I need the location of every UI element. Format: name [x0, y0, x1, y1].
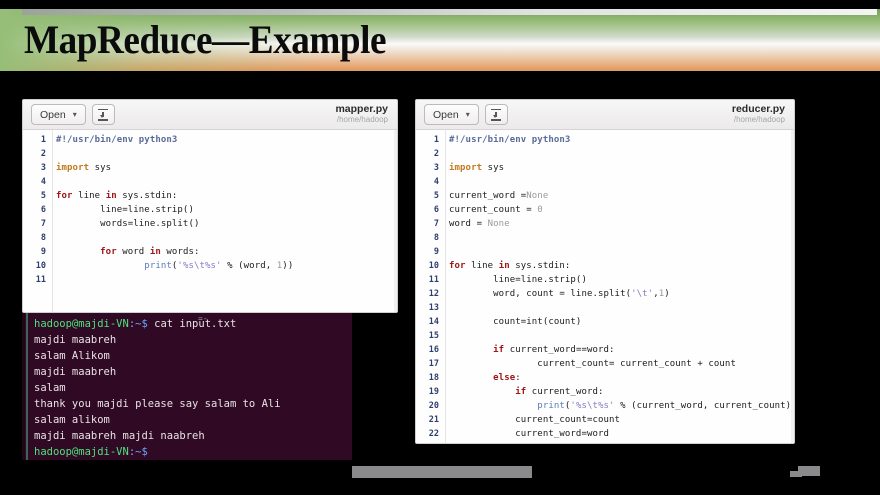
code-line: 5for line in sys.stdin:	[23, 189, 397, 203]
line-number: 9	[23, 245, 50, 259]
line-number: 1	[23, 133, 50, 147]
line-number: 12	[416, 287, 443, 301]
reducer-file-path: /home/hadoop	[732, 115, 785, 124]
terminal-artifact-mark: =-	[198, 314, 208, 323]
mapper-file-name: mapper.py	[335, 103, 388, 115]
code-line: 8	[416, 231, 794, 245]
line-number: 6	[416, 203, 443, 217]
code-line: 7word = None	[416, 217, 794, 231]
code-text: line=line.strip()	[443, 273, 587, 287]
terminal-line: salam	[26, 380, 352, 396]
line-number: 15	[416, 329, 443, 343]
terminal-line: salam alikom	[26, 412, 352, 428]
code-line: 21 current_count=count	[416, 413, 794, 427]
code-text: import sys	[443, 161, 504, 175]
line-number: 20	[416, 399, 443, 413]
reducer-editor-window: Open ▾ reducer.py /home/hadoop 1#!/usr/b…	[415, 99, 795, 444]
mapper-file-path: /home/hadoop	[335, 115, 388, 124]
code-line: 10 print('%s\t%s' % (word, 1))	[23, 259, 397, 273]
mapper-scrollbar[interactable]	[394, 130, 397, 312]
code-text: words=line.split()	[50, 217, 199, 231]
line-number: 23	[416, 441, 443, 443]
code-line: 9	[416, 245, 794, 259]
line-number: 6	[23, 203, 50, 217]
mapper-gutter-divider	[52, 130, 53, 312]
line-number: 17	[416, 357, 443, 371]
line-number: 4	[416, 175, 443, 189]
code-text: else:	[443, 371, 521, 385]
code-text: print('%s\t%s' % (current_word, current_…	[443, 399, 794, 413]
code-line: 6 line=line.strip()	[23, 203, 397, 217]
chevron-down-icon: ▾	[466, 110, 470, 119]
code-line: 14 count=int(count)	[416, 315, 794, 329]
mapper-title-block: mapper.py /home/hadoop	[335, 103, 388, 124]
code-line: 11	[23, 273, 397, 287]
page-title: MapReduce—Example	[24, 14, 386, 66]
code-line: 9 for word in words:	[23, 245, 397, 259]
code-line: 1#!/usr/bin/env python3	[23, 133, 397, 147]
line-number: 5	[416, 189, 443, 203]
code-text: #!/usr/bin/env python3	[443, 133, 570, 147]
code-text: import sys	[50, 161, 111, 175]
line-number: 2	[416, 147, 443, 161]
line-number: 3	[416, 161, 443, 175]
reducer-title-block: reducer.py /home/hadoop	[732, 103, 785, 124]
code-line: 11 line=line.strip()	[416, 273, 794, 287]
code-line: 8	[23, 231, 397, 245]
code-text: word, count = line.split('\t',1)	[443, 287, 670, 301]
reducer-file-name: reducer.py	[732, 103, 785, 115]
terminal-left-edge	[22, 313, 25, 460]
line-number: 2	[23, 147, 50, 161]
code-line: 22 current_word=word	[416, 427, 794, 441]
code-text: if current_word==word:	[443, 343, 615, 357]
code-line: 5current_word =None	[416, 189, 794, 203]
line-number: 10	[23, 259, 50, 273]
line-number: 1	[416, 133, 443, 147]
line-number: 21	[416, 413, 443, 427]
code-text: current_word =None	[443, 189, 548, 203]
line-number: 7	[416, 217, 443, 231]
line-number: 11	[23, 273, 50, 287]
code-line: 10for line in sys.stdin:	[416, 259, 794, 273]
mapper-open-label: Open	[40, 109, 66, 121]
mapper-toolbar: Open ▾	[31, 104, 115, 125]
reducer-scrollbar[interactable]	[791, 130, 794, 443]
terminal-line: majdi maabreh majdi naabreh	[26, 428, 352, 444]
terminal-line: salam Alikom	[26, 348, 352, 364]
code-line: 1#!/usr/bin/env python3	[416, 133, 794, 147]
terminal-line: hadoop@majdi-VN:~$ cat input.txt	[26, 316, 352, 332]
mapper-titlebar: Open ▾ mapper.py /home/hadoop	[23, 100, 397, 130]
line-number: 10	[416, 259, 443, 273]
code-text: count=int(count)	[443, 315, 581, 329]
mapper-open-button[interactable]: Open ▾	[31, 104, 86, 125]
code-line: 16 if current_word==word:	[416, 343, 794, 357]
reducer-code-area[interactable]: 1#!/usr/bin/env python32 3import sys4 5c…	[416, 130, 794, 443]
code-line: 2	[416, 147, 794, 161]
line-number: 8	[23, 231, 50, 245]
code-line: 18 else:	[416, 371, 794, 385]
code-text: for line in sys.stdin:	[443, 259, 570, 273]
terminal-scroll-indicator[interactable]	[26, 313, 28, 460]
line-number: 3	[23, 161, 50, 175]
reducer-toolbar: Open ▾	[424, 104, 508, 125]
reducer-gutter-divider	[445, 130, 446, 443]
line-number: 22	[416, 427, 443, 441]
code-text: current_count= current_count + count	[443, 357, 736, 371]
code-text: current_count = 0	[443, 203, 543, 217]
code-line: 20 print('%s\t%s' % (current_word, curre…	[416, 399, 794, 413]
code-line: 15	[416, 329, 794, 343]
code-line: 17 current_count= current_count + count	[416, 357, 794, 371]
save-icon	[97, 109, 109, 121]
slide-footer-bar	[352, 466, 532, 478]
line-number: 18	[416, 371, 443, 385]
code-line: 6current_count = 0	[416, 203, 794, 217]
code-line: 4	[23, 175, 397, 189]
terminal-line: majdi maabreh	[26, 364, 352, 380]
code-text: #!/usr/bin/env python3	[50, 133, 177, 147]
code-text: line=line.strip()	[50, 203, 194, 217]
terminal-line: majdi maabreh	[26, 332, 352, 348]
reducer-save-button[interactable]	[485, 104, 508, 125]
line-number: 7	[23, 217, 50, 231]
code-line: 3import sys	[416, 161, 794, 175]
code-line: 13	[416, 301, 794, 315]
save-icon	[490, 109, 502, 121]
reducer-open-button[interactable]: Open ▾	[424, 104, 479, 125]
mapper-editor-window: Open ▾ mapper.py /home/hadoop 1#!/usr/bi…	[22, 99, 398, 313]
code-line: 19 if current_word:	[416, 385, 794, 399]
code-line: 12 word, count = line.split('\t',1)	[416, 287, 794, 301]
terminal-line: hadoop@majdi-VN:~$	[26, 444, 352, 460]
line-number: 4	[23, 175, 50, 189]
line-number: 5	[23, 189, 50, 203]
chevron-down-icon: ▾	[73, 110, 77, 119]
terminal-output: hadoop@majdi-VN:~$ cat input.txtmajdi ma…	[26, 316, 352, 460]
code-text: word = None	[443, 217, 510, 231]
code-text: current_count=count	[443, 413, 620, 427]
reducer-open-label: Open	[433, 109, 459, 121]
line-number: 9	[416, 245, 443, 259]
slide-footer-mark-secondary	[790, 471, 802, 477]
line-number: 11	[416, 273, 443, 287]
code-text: current_word=word	[443, 427, 609, 441]
code-text: print('%s\t%s' % (word, 1))	[50, 259, 293, 273]
line-number: 14	[416, 315, 443, 329]
reducer-titlebar: Open ▾ reducer.py /home/hadoop	[416, 100, 794, 130]
mapper-save-button[interactable]	[92, 104, 115, 125]
code-line: 7 words=line.split()	[23, 217, 397, 231]
code-line: 23	[416, 441, 794, 443]
code-line: 4	[416, 175, 794, 189]
terminal-window[interactable]: =- hadoop@majdi-VN:~$ cat input.txtmajdi…	[22, 313, 352, 460]
line-number: 19	[416, 385, 443, 399]
line-number: 13	[416, 301, 443, 315]
code-text: for word in words:	[50, 245, 200, 259]
line-number: 8	[416, 231, 443, 245]
line-number: 16	[416, 343, 443, 357]
code-text: if current_word:	[443, 385, 604, 399]
mapper-code-area[interactable]: 1#!/usr/bin/env python32 3import sys4 5f…	[23, 130, 397, 312]
code-text: for line in sys.stdin:	[50, 189, 177, 203]
code-line: 2	[23, 147, 397, 161]
code-line: 3import sys	[23, 161, 397, 175]
terminal-line: thank you majdi please say salam to Ali	[26, 396, 352, 412]
